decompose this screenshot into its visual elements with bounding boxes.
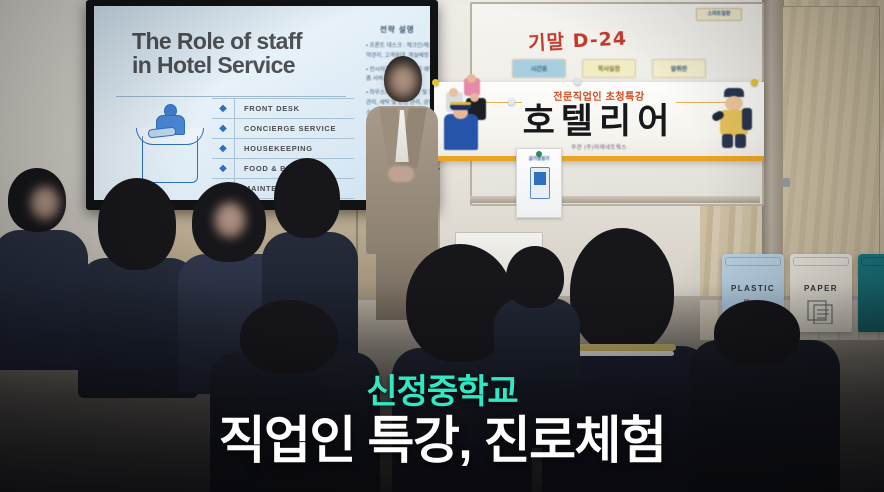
list-item: ◆ FRONT DESK [212,98,354,119]
slide-title-line2: in Hotel Service [132,54,347,78]
slide-title-line1: The Role of staff [132,30,347,54]
career-figures-illustration [436,78,500,154]
presenter-hands [388,166,414,182]
video-frame: The Role of staff in Hotel Service ◆ FRO… [0,0,884,492]
whiteboard-card: 알뤼판 [652,59,706,78]
banner-pin [508,98,515,105]
banner-pin [574,78,581,85]
slide-divider [116,96,346,97]
whiteboard-handwriting: 기말 D-24 [527,23,627,55]
slide-title: The Role of staff in Hotel Service [132,30,347,78]
banner-pin [751,79,758,86]
student [210,300,380,492]
diamond-icon: ◆ [212,99,235,118]
diamond-icon: ◆ [212,159,235,178]
collar-stripe [570,351,674,356]
air-purifier-poster: 공기청정기 [516,148,562,218]
whiteboard-card: 학사일정 [582,59,636,78]
event-banner: 전문직업인 초청특강 호텔리어 주관 (주)미래네트웍스 [434,82,764,161]
student [0,168,88,368]
diamond-icon: ◆ [212,119,235,138]
collar-stripe [568,344,676,351]
recycling-bin-teal [858,254,884,332]
whiteboard-tray [470,196,760,203]
receptionist-illustration [136,102,202,188]
student [494,246,580,446]
door-knob[interactable] [781,178,790,187]
whiteboard-sticker: 스마트칠판 [696,8,742,21]
blurred-face [388,64,418,98]
device-illustration [530,167,550,199]
student [690,300,840,492]
list-item: ◆ HOUSEKEEPING [212,139,354,159]
whiteboard-card: 시간표 [512,59,566,78]
list-item: ◆ CONCIERGE SERVICE [212,119,354,139]
diamond-icon: ◆ [212,139,235,158]
worker-figure-illustration [712,90,760,150]
